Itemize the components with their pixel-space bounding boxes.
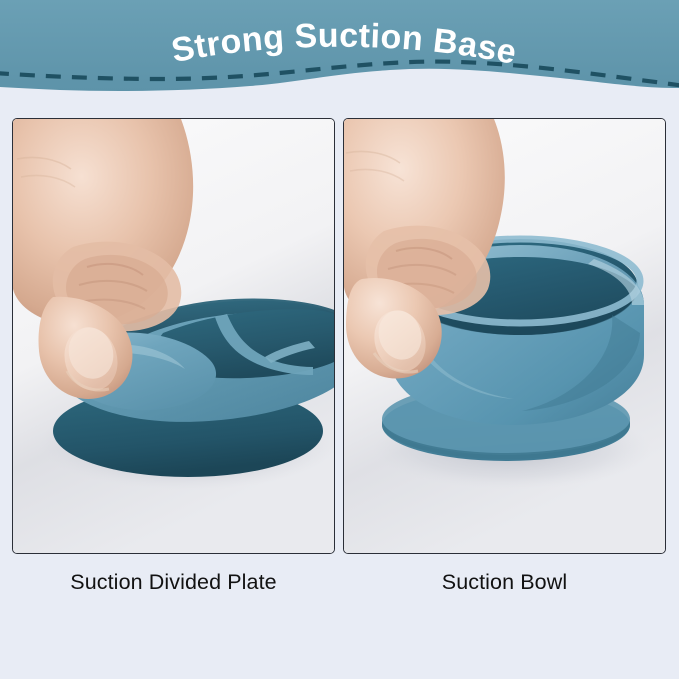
photo-suction-divided-plate [13,119,334,553]
panel-row [12,118,667,554]
photo-panel-suction-bowl[interactable] [343,118,666,554]
caption-row: Suction Divided Plate Suction Bowl [12,562,667,604]
header-banner: Strong Suction Base [0,0,679,120]
header-wave-shape [0,0,679,120]
photo-suction-bowl [344,119,665,553]
caption-suction-divided-plate: Suction Divided Plate [12,562,335,604]
photo-panel-suction-divided-plate[interactable] [12,118,335,554]
caption-suction-bowl: Suction Bowl [343,562,666,604]
product-infographic: Strong Suction Base [0,0,679,679]
